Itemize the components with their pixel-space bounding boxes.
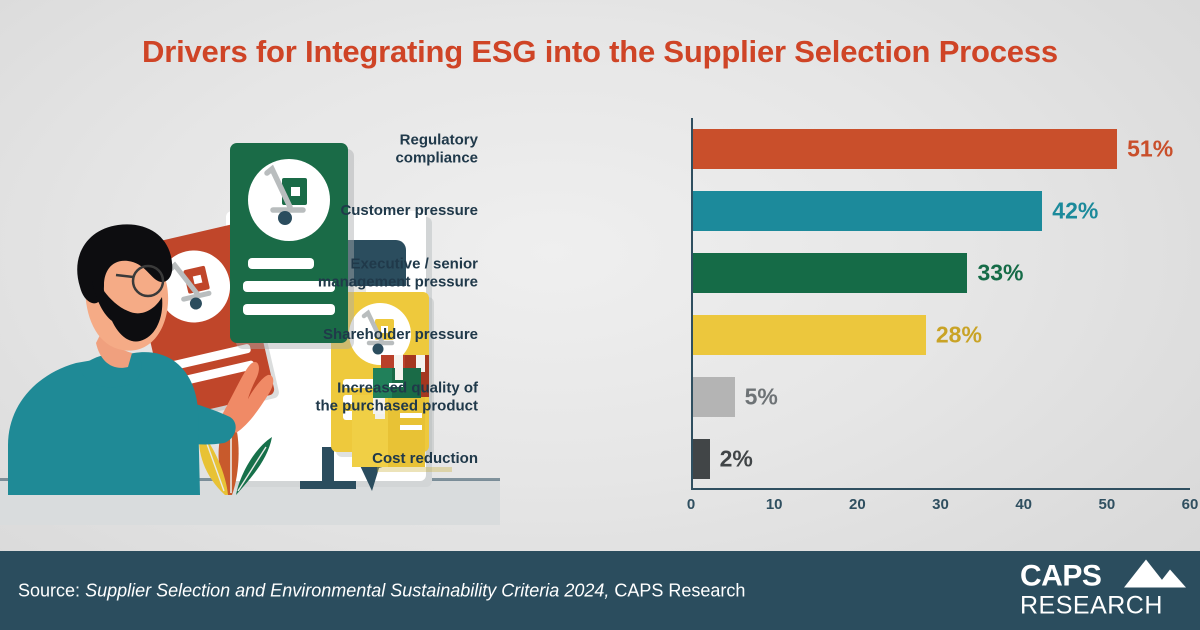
bar-value-label: 5% [745,384,778,411]
bar-value-label: 28% [936,322,982,349]
x-tick-label: 50 [1098,496,1115,513]
bar[interactable] [693,253,967,293]
x-tick-label: 20 [849,496,866,513]
bar-value-label: 42% [1052,198,1098,225]
bar[interactable] [693,315,926,355]
footer-bar: Source: Supplier Selection and Environme… [0,551,1200,630]
source-prefix: Source: [18,580,80,600]
source-citation: Source: Supplier Selection and Environme… [18,580,745,601]
category-label: Executive / senior management pressure [268,255,478,290]
chart-row: Increased quality of the purchased produ… [691,377,1190,417]
bar[interactable] [693,129,1117,169]
bar-value-label: 2% [720,446,753,473]
plot-area: Regulatory compliance51%Customer pressur… [691,118,1190,490]
x-tick-label: 10 [766,496,783,513]
chart-row: Executive / senior management pressure33… [691,253,1190,293]
source-publisher: CAPS Research [614,580,745,600]
x-axis-ticks: 0102030405060 [691,496,1190,520]
x-axis-line [691,488,1190,490]
x-tick-label: 30 [932,496,949,513]
category-label: Customer pressure [268,202,478,220]
bar-chart: Regulatory compliance51%Customer pressur… [490,118,1200,518]
source-title: Supplier Selection and Environmental Sus… [85,580,609,600]
x-tick-label: 40 [1015,496,1032,513]
page-title: Drivers for Integrating ESG into the Sup… [0,34,1200,70]
chart-row: Shareholder pressure28% [691,315,1190,355]
bar-value-label: 51% [1127,136,1173,163]
svg-text:RESEARCH: RESEARCH [1020,591,1163,619]
y-axis-line [691,118,693,490]
bar-value-label: 33% [977,260,1023,287]
bar[interactable] [693,191,1042,231]
chart-row: Customer pressure42% [691,191,1190,231]
category-label: Cost reduction [268,450,478,468]
supplier-card-green [230,143,354,349]
chart-row: Cost reduction2% [691,439,1190,479]
chart-row: Regulatory compliance51% [691,129,1190,169]
svg-text:CAPS: CAPS [1020,559,1101,592]
bar[interactable] [693,377,735,417]
x-tick-label: 60 [1182,496,1199,513]
infographic-page: Drivers for Integrating ESG into the Sup… [0,0,1200,630]
category-label: Shareholder pressure [268,326,478,344]
bar[interactable] [693,439,710,479]
caps-research-logo[interactable]: CAPS RESEARCH [1020,557,1190,624]
category-label: Regulatory compliance [268,131,478,166]
x-tick-label: 0 [687,496,695,513]
category-label: Increased quality of the purchased produ… [268,379,478,414]
